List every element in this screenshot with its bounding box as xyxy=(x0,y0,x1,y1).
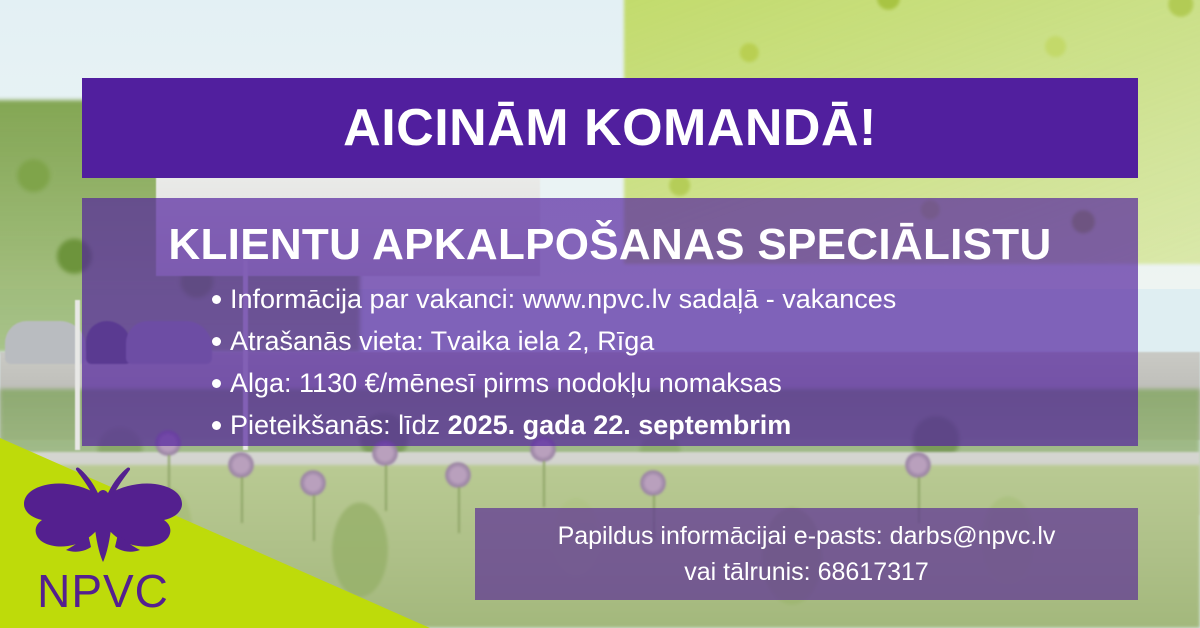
car xyxy=(5,321,86,365)
list-item: Informācija par vakanci: www.npvc.lv sad… xyxy=(230,278,1138,320)
contact-panel: Papildus informācijai e-pasts: darbs@npv… xyxy=(475,508,1138,600)
bullet-dot-icon xyxy=(212,295,221,304)
npvc-logo: NPVC xyxy=(18,460,188,620)
lamp-post xyxy=(75,300,80,450)
list-item-text: Informācija par vakanci: www.npvc.lv sad… xyxy=(230,284,896,314)
list-item: Alga: 1130 €/mēnesī pirms nodokļu nomaks… xyxy=(230,362,1138,404)
list-item-text: Alga: 1130 €/mēnesī pirms nodokļu nomaks… xyxy=(230,368,782,398)
list-item-text: Atrašanās vieta: Tvaika iela 2, Rīga xyxy=(230,326,654,356)
main-content-panel: KLIENTU APKALPOŠANAS SPECIĀLISTU Informā… xyxy=(82,198,1138,446)
banner-title: AICINĀM KOMANDĀ! xyxy=(343,98,877,158)
bullet-dot-icon xyxy=(212,337,221,346)
bullet-dot-icon xyxy=(212,379,221,388)
job-advert-poster: AICINĀM KOMANDĀ! KLIENTU APKALPOŠANAS SP… xyxy=(0,0,1200,628)
headline-banner: AICINĀM KOMANDĀ! xyxy=(82,78,1138,178)
list-item-emphasis: 2025. gada 22. septembrim xyxy=(448,410,792,440)
list-item: Atrašanās vieta: Tvaika iela 2, Rīga xyxy=(230,320,1138,362)
details-list: Informācija par vakanci: www.npvc.lv sad… xyxy=(82,278,1138,446)
bullet-dot-icon xyxy=(212,421,221,430)
job-title: KLIENTU APKALPOŠANAS SPECIĀLISTU xyxy=(82,220,1138,270)
allium-flower xyxy=(445,462,471,488)
logo-text: NPVC xyxy=(18,564,188,618)
list-item: Pieteikšanās: līdz 2025. gada 22. septem… xyxy=(230,404,1138,446)
list-item-text: Pieteikšanās: līdz xyxy=(230,410,448,440)
allium-flower xyxy=(228,452,254,478)
contact-email-line: Papildus informācijai e-pasts: darbs@npv… xyxy=(558,518,1056,554)
contact-phone-line: vai tālrunis: 68617317 xyxy=(684,554,929,590)
allium-flower xyxy=(300,470,326,496)
butterfly-icon xyxy=(18,460,188,565)
allium-flower xyxy=(640,470,666,496)
allium-flower xyxy=(905,452,931,478)
